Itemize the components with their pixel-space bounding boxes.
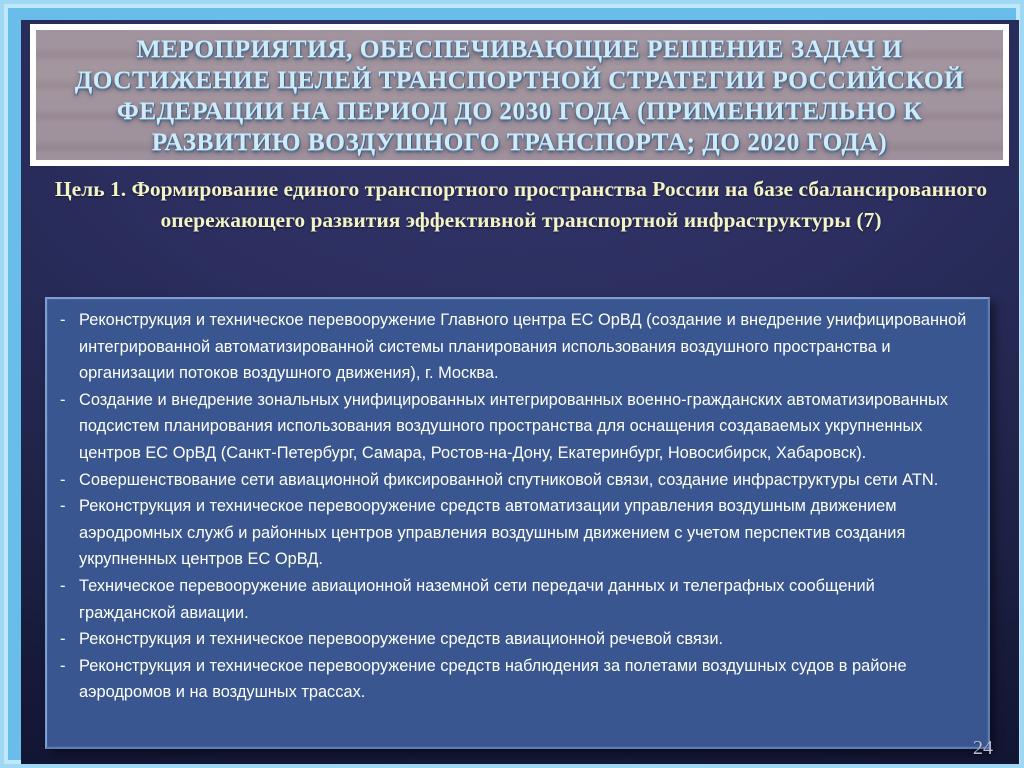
bullet-dash-marker: - [57, 493, 79, 520]
bullet-item: -Реконструкция и техническое перевооруже… [57, 307, 972, 387]
slide-decorative-frame: МЕРОПРИЯТИЯ, ОБЕСПЕЧИВАЮЩИЕ РЕШЕНИЕ ЗАДА… [0, 0, 1024, 768]
bullet-dash-marker: - [57, 573, 79, 600]
bullet-text: Реконструкция и техническое перевооружен… [79, 307, 972, 387]
bullet-item: -Создание и внедрение зональных унифицир… [57, 387, 972, 467]
bullet-dash-marker: - [57, 307, 79, 334]
bullet-item: -Реконструкция и техническое перевооруже… [57, 653, 972, 706]
title-plaque: МЕРОПРИЯТИЯ, ОБЕСПЕЧИВАЮЩИЕ РЕШЕНИЕ ЗАДА… [30, 24, 1009, 166]
slide-title: МЕРОПРИЯТИЯ, ОБЕСПЕЧИВАЮЩИЕ РЕШЕНИЕ ЗАДА… [36, 33, 1003, 157]
bullet-item: -Реконструкция и техническое перевооруже… [57, 493, 972, 573]
page-number: 24 [973, 737, 993, 760]
bullet-dash-marker: - [57, 626, 79, 653]
bullet-text: Реконструкция и техническое перевооружен… [79, 653, 972, 706]
slide-frame-band-light: МЕРОПРИЯТИЯ, ОБЕСПЕЧИВАЮЩИЕ РЕШЕНИЕ ЗАДА… [4, 4, 1020, 764]
bullet-text: Реконструкция и техническое перевооружен… [79, 626, 972, 653]
bullet-text: Создание и внедрение зональных унифициро… [79, 387, 972, 467]
bullet-text: Реконструкция и техническое перевооружен… [79, 493, 972, 573]
measures-bullet-list: -Реконструкция и техническое перевооруже… [57, 307, 972, 706]
slide-frame-band-blue: МЕРОПРИЯТИЯ, ОБЕСПЕЧИВАЮЩИЕ РЕШЕНИЕ ЗАДА… [8, 8, 1016, 760]
bullet-dash-marker: - [57, 653, 79, 680]
bullet-item: -Реконструкция и техническое перевооруже… [57, 626, 972, 653]
measures-content-box: -Реконструкция и техническое перевооруже… [45, 297, 990, 749]
bullet-dash-marker: - [57, 467, 79, 494]
title-plaque-face: МЕРОПРИЯТИЯ, ОБЕСПЕЧИВАЮЩИЕ РЕШЕНИЕ ЗАДА… [36, 30, 1003, 160]
bullet-dash-marker: - [57, 387, 79, 414]
goal-subtitle: Цель 1. Формирование единого транспортно… [47, 174, 995, 236]
slide-canvas: МЕРОПРИЯТИЯ, ОБЕСПЕЧИВАЮЩИЕ РЕШЕНИЕ ЗАДА… [21, 20, 1019, 764]
bullet-text: Совершенствование сети авиационной фикси… [79, 467, 972, 494]
bullet-text: Техническое перевооружение авиационной н… [79, 573, 972, 626]
bullet-item: -Техническое перевооружение авиационной … [57, 573, 972, 626]
bullet-item: -Совершенствование сети авиационной фикс… [57, 467, 972, 494]
